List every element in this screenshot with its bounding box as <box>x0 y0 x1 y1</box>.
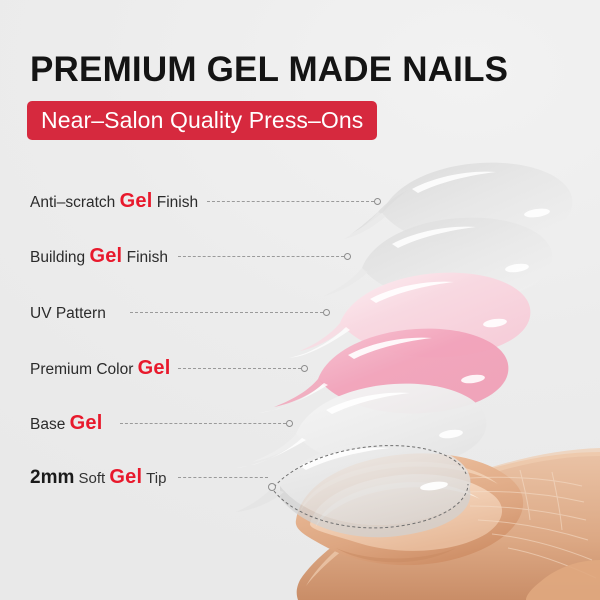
callout-label: 2mm Soft Gel Tip <box>30 465 166 491</box>
callout-text-pre: Anti–scratch <box>30 194 120 211</box>
callout-text-gel: Gel <box>70 412 103 434</box>
callout-text-pre: Premium Color <box>30 361 138 378</box>
leader-line <box>120 423 286 425</box>
callout-text-gel: Gel <box>89 245 122 267</box>
callout-text-gel: Gel <box>120 190 153 212</box>
callout-text-gel: Gel <box>138 357 171 379</box>
leader-line <box>178 368 301 370</box>
leader-endpoint-dot <box>323 309 330 316</box>
leader-line <box>130 312 323 314</box>
page-title: PREMIUM GEL MADE NAILS <box>30 50 508 90</box>
callout-text-post: Finish <box>122 249 168 266</box>
leader-line <box>178 256 344 258</box>
callout-text-pre: Base <box>30 416 70 433</box>
callout-label: Premium Color Gel <box>30 356 171 382</box>
callout-text-pre: Soft <box>74 470 109 487</box>
subtitle-badge: Near–Salon Quality Press–Ons <box>27 101 377 140</box>
callout-text-thickness: 2mm <box>30 467 74 488</box>
callout-label: UV Pattern <box>30 300 106 326</box>
leader-line <box>207 201 374 203</box>
callout-label: Base Gel <box>30 411 102 437</box>
leader-endpoint-dot <box>344 253 351 260</box>
callout-text-gel: Gel <box>109 466 142 488</box>
callout-text-post: Tip <box>142 470 166 487</box>
leader-endpoint-dot <box>286 420 293 427</box>
callout-text-pre: Building <box>30 249 89 266</box>
callout-label: Anti–scratch Gel Finish <box>30 189 198 215</box>
callout-label: Building Gel Finish <box>30 244 168 270</box>
callout-text-pre: UV Pattern <box>30 305 106 322</box>
poster-root: PREMIUM GEL MADE NAILS Near–Salon Qualit… <box>0 0 600 600</box>
leader-endpoint-dot <box>301 365 308 372</box>
callout-text-post: Finish <box>152 194 198 211</box>
leader-endpoint-dot <box>374 198 381 205</box>
leader-line <box>178 477 268 479</box>
